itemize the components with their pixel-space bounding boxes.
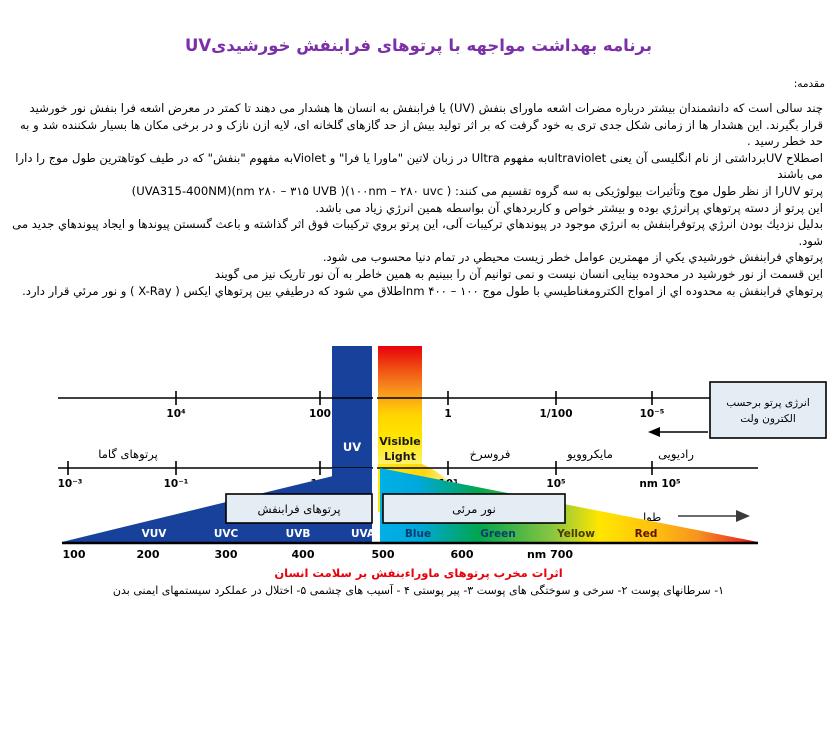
visible-light-box-label: نور مرئی [452, 502, 496, 517]
paragraph-4: این پرتو از دسته پرتوهاي پرانرژي بوده و … [11, 200, 823, 217]
energy-tick-0: 10⁴ [166, 408, 186, 420]
uv-column-label: UV [343, 440, 361, 454]
energy-tick-2: 1 [444, 408, 451, 420]
page-title: برنامه بهداشت مواجهه با پرتوهای فرابنفش … [0, 36, 837, 55]
paragraph-7: این قسمت از نور خورشید در محدوده بینایی … [11, 266, 823, 283]
energy-tick-1: 100 [309, 408, 331, 420]
energy-tick-3: 1/100 [539, 408, 572, 420]
band-uvb: UVB [286, 528, 311, 540]
paragraph-2: اصطلاح UVبرداشتی از نام انگلیسی آن یعنی … [11, 150, 823, 183]
wl-tick-1: 10⁻¹ [164, 478, 189, 490]
wl-tick-0: 10⁻³ [58, 478, 83, 490]
band-green: Green [480, 528, 516, 540]
wavelength-arrow [678, 510, 750, 522]
paragraph-1: چند سالی است که دانشمندان بیشتر درباره م… [11, 100, 823, 150]
intro-label: مقدمه: [794, 78, 825, 90]
nm-200: 200 [137, 548, 160, 561]
wl-tick-5: 10⁵ nm [639, 478, 681, 490]
band-uvc: UVC [214, 528, 239, 540]
nm-scale-labels: 100 200 300 400 500 600 700 nm [63, 548, 574, 561]
wl-tick-4: 10⁵ [546, 478, 566, 490]
band-blue: Blue [405, 528, 431, 540]
nm-400: 400 [292, 548, 315, 561]
region-label-infrared: فروسرخ [470, 447, 511, 462]
band-uva: UVA [351, 528, 376, 540]
energy-tick-4: 10⁻⁵ [640, 408, 665, 420]
region-label-microwave: مایکروویو [566, 447, 613, 462]
band-vuv: VUV [142, 528, 168, 540]
paragraph-6: پرتوهاي فرابنفش خورشیدي یکي از مهمترین ع… [11, 249, 823, 266]
visible-label-line2: Light [384, 450, 416, 463]
energy-box-label: انرژی پرتو برحسب الکترون ولت [714, 388, 822, 434]
band-yellow: Yellow [556, 528, 595, 540]
paragraph-5: بدلیل نزدیك بودن انرژي پرتوفرابنفش به ان… [11, 216, 823, 249]
band-red: Red [635, 528, 658, 540]
region-label-gamma: پرتوهای گاما [98, 447, 158, 462]
nm-600: 600 [451, 548, 474, 561]
paragraph-3: پرتو UVرا از نظر طول موج وتأثیرات بیولوژ… [11, 183, 823, 200]
nm-300: 300 [215, 548, 238, 561]
uv-rays-box-label: پرتوهای فرابنفش [257, 502, 340, 517]
body-text: چند سالی است که دانشمندان بیشتر درباره م… [11, 100, 823, 299]
nm-700: 700 nm [527, 548, 573, 561]
nm-500: 500 [372, 548, 395, 561]
em-spectrum-diagram: 10⁴ 100 1 1/100 10⁻⁵ UV Visible Light پر… [58, 346, 828, 561]
visible-label-line1: Visible [379, 435, 421, 448]
energy-direction-arrow [648, 427, 708, 437]
paragraph-8: پرتوهاي فرابنفش به محدوده اي از امواج ال… [11, 283, 823, 300]
document-page: برنامه بهداشت مواجهه با پرتوهای فرابنفش … [0, 0, 837, 753]
nm-100: 100 [63, 548, 86, 561]
footer-heading: اثرات مخرب پرتوهای ماوراءبنفش بر سلامت ا… [0, 566, 837, 580]
region-label-radio: رادیویی [658, 447, 694, 462]
footer-list: ۱- سرطانهای پوست ۲- سرخی و سوختگی های پو… [0, 584, 837, 597]
